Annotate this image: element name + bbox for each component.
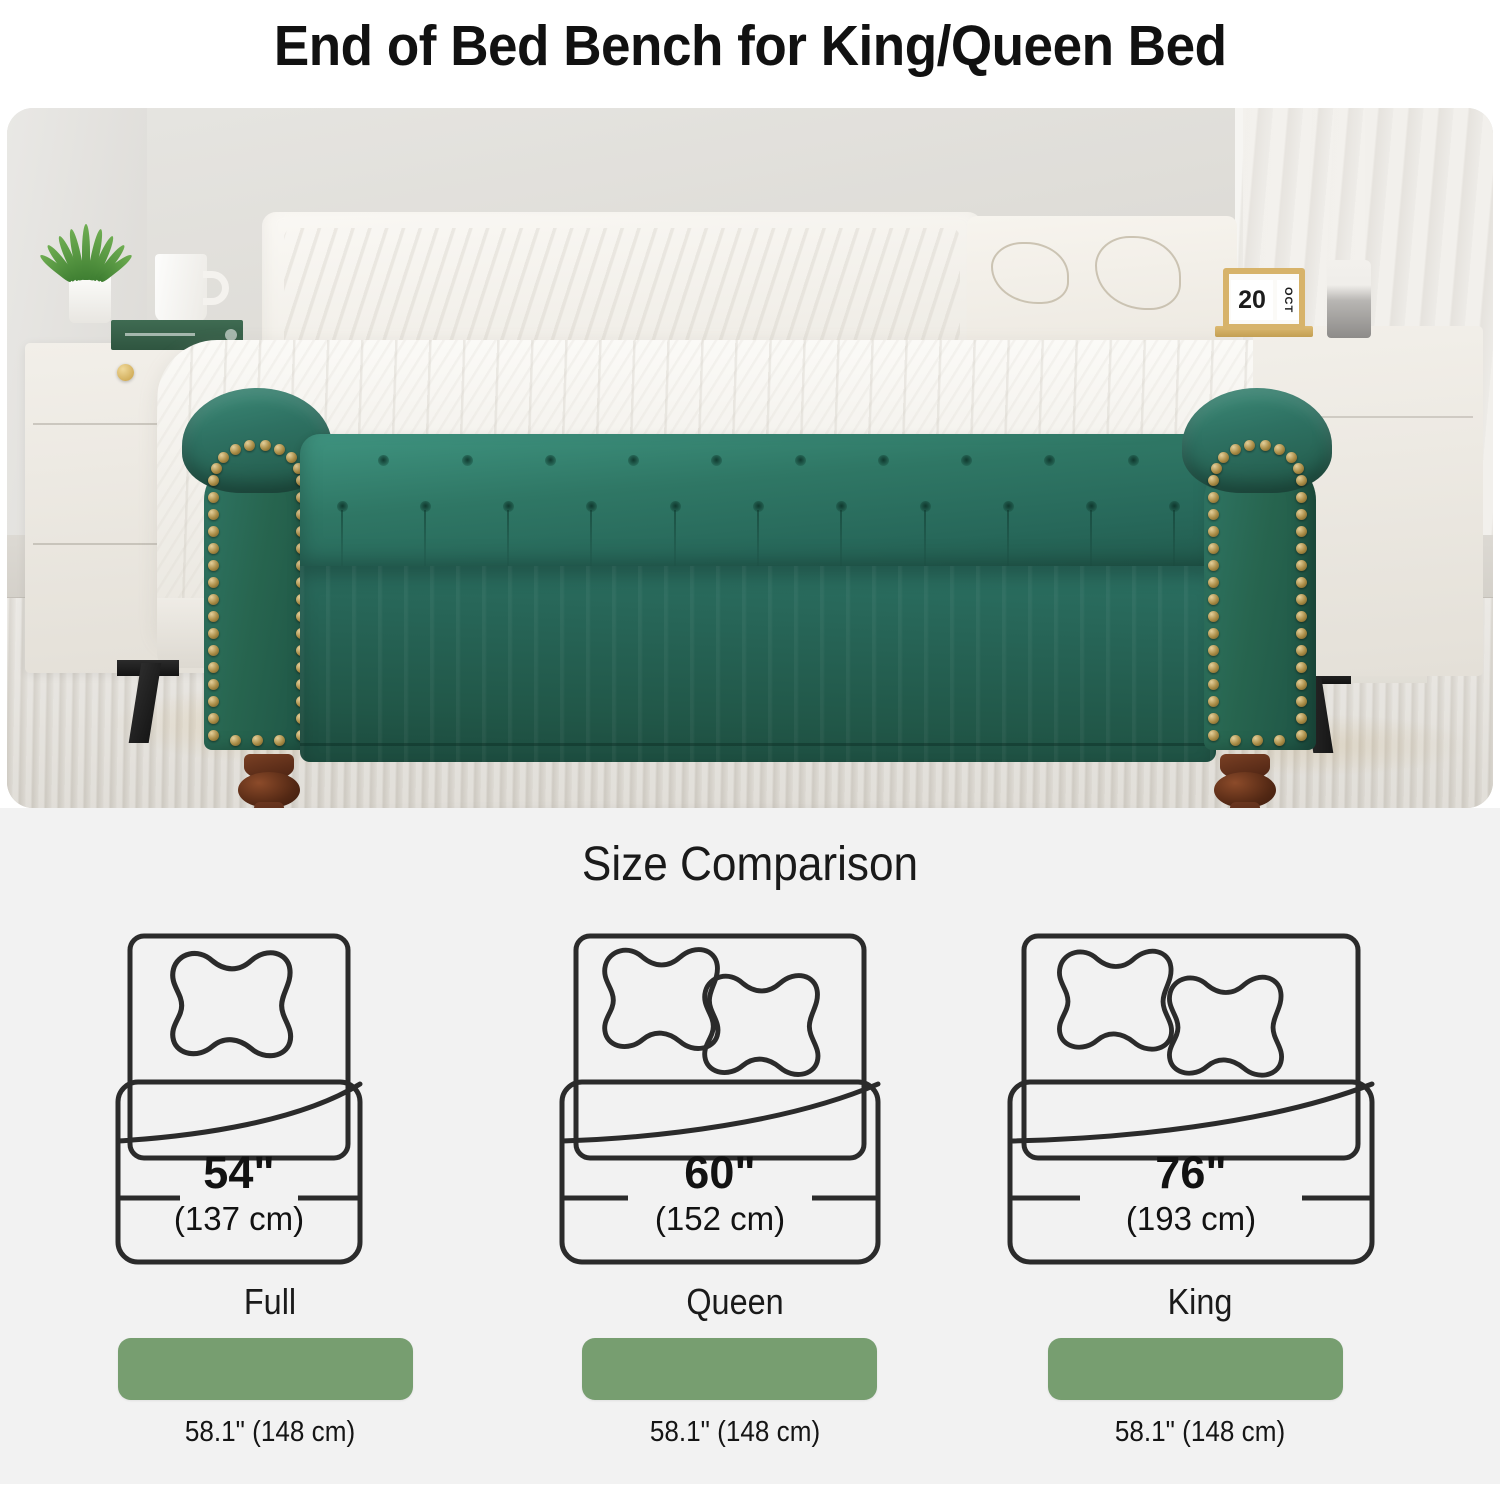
nailhead-stud-icon <box>1274 735 1285 746</box>
bed-diagram-full: 54" (137 cm) <box>100 926 440 1276</box>
bench-front-panel <box>300 566 1216 762</box>
bench-lid-tufted <box>300 434 1216 574</box>
nailhead-stud-icon <box>1208 679 1219 690</box>
nailhead-stud-icon <box>1296 696 1307 707</box>
nailhead-stud-icon <box>230 444 241 455</box>
pillow-icon <box>1059 951 1171 1049</box>
velvet-sheen <box>300 566 1216 762</box>
nailhead-stud-icon <box>274 735 285 746</box>
nailhead-stud-icon <box>208 730 219 741</box>
bench-leg-right <box>1214 754 1276 808</box>
nailhead-stud-icon <box>1296 645 1307 656</box>
page-title: End of Bed Bench for King/Queen Bed <box>274 18 1227 75</box>
nailhead-stud-icon <box>1208 730 1219 741</box>
bed-column-king: 76" (193 cm) King 58.1" (148 cm) <box>1000 926 1400 1486</box>
bed-column-full: 54" (137 cm) Full 58.1" (148 cm) <box>100 926 440 1486</box>
tuft-seam <box>341 510 343 568</box>
nailhead-stud-icon <box>1230 444 1241 455</box>
tuft-seam <box>840 510 842 568</box>
nailhead-stud-icon <box>1208 696 1219 707</box>
nailhead-stud-icon <box>1296 730 1307 741</box>
nailhead-stud-icon <box>208 492 219 503</box>
tuft-seam <box>1173 510 1175 568</box>
bench-leg-left <box>238 754 300 808</box>
tuft-button <box>1128 455 1139 466</box>
nailhead-stud-icon <box>1208 662 1219 673</box>
pillow-icon <box>605 950 718 1049</box>
nailhead-stud-icon <box>208 611 219 622</box>
nailhead-stud-icon <box>208 628 219 639</box>
embroidery-motif <box>1095 236 1181 310</box>
nailhead-stud-icon <box>230 735 241 746</box>
nailhead-stud-icon <box>208 662 219 673</box>
nailhead-stud-icon <box>1296 611 1307 622</box>
nailhead-stud-icon <box>1244 440 1255 451</box>
bench-arm-right <box>1182 388 1332 748</box>
calendar-day: 20 <box>1231 280 1273 320</box>
tuft-button <box>628 455 639 466</box>
storage-bench <box>182 388 1332 808</box>
tuft-seam <box>674 510 676 568</box>
nailhead-stud-icon <box>1286 452 1297 463</box>
page-header: End of Bed Bench for King/Queen Bed <box>0 0 1500 92</box>
nailhead-stud-icon <box>1296 628 1307 639</box>
nailhead-stud-icon <box>1208 594 1219 605</box>
calendar-month: OCT <box>1277 280 1299 320</box>
nailhead-stud-icon <box>1208 475 1219 486</box>
nailhead-stud-icon <box>211 463 222 474</box>
nailhead-stud-icon <box>1208 713 1219 724</box>
blanket-fold-line <box>118 1084 360 1141</box>
blanket-fold-line <box>562 1084 878 1141</box>
nailhead-stud-icon <box>1293 463 1304 474</box>
book-title-line <box>125 333 195 336</box>
mug <box>155 254 207 322</box>
tuft-button <box>378 455 389 466</box>
bed-comparison-columns: 54" (137 cm) Full 58.1" (148 cm) <box>0 926 1500 1486</box>
nailhead-stud-icon <box>1208 577 1219 588</box>
tuft-seam <box>424 510 426 568</box>
bench-arm-right-roll <box>1182 388 1332 493</box>
nailhead-stud-icon <box>208 645 219 656</box>
tuft-button <box>878 455 889 466</box>
nailhead-stud-icon <box>1208 543 1219 554</box>
pillow-icon <box>1169 977 1281 1075</box>
nailhead-stud-icon <box>1208 645 1219 656</box>
tuft-button <box>795 455 806 466</box>
nailhead-stud-icon <box>1208 628 1219 639</box>
bed-name-full: Full <box>117 1284 423 1320</box>
product-photo: 20 OCT <box>7 108 1493 808</box>
embroidery-motif <box>991 242 1069 304</box>
nailhead-stud-icon <box>1296 492 1307 503</box>
bed-width-inches: 60" <box>684 1147 755 1198</box>
nailhead-stud-icon <box>1252 735 1263 746</box>
nailhead-stud-icon <box>208 509 219 520</box>
nailhead-stud-icon <box>208 713 219 724</box>
nailhead-stud-icon <box>208 560 219 571</box>
bed-width-inches: 76" <box>1155 1147 1226 1198</box>
nailhead-stud-icon <box>1296 662 1307 673</box>
bench-bar-queen <box>582 1338 877 1400</box>
nailhead-stud-icon <box>1296 543 1307 554</box>
tuft-seam <box>924 510 926 568</box>
vase <box>1327 260 1371 338</box>
blanket-fold-line <box>1010 1084 1372 1141</box>
bed-column-queen: 60" (152 cm) Queen 58.1" (148 cm) <box>550 926 920 1486</box>
nailhead-stud-icon <box>1296 713 1307 724</box>
nailhead-stud-icon <box>1208 560 1219 571</box>
bed-width-cm: (137 cm) <box>174 1200 304 1237</box>
tuft-button <box>1044 455 1055 466</box>
nailhead-stud-icon <box>1296 560 1307 571</box>
pillow-icon <box>705 976 818 1075</box>
tuft-seam <box>1007 510 1009 568</box>
nailhead-stud-icon <box>1296 475 1307 486</box>
nailhead-stud-icon <box>1211 463 1222 474</box>
tuft-seam <box>757 510 759 568</box>
bench-bar-king <box>1048 1338 1343 1400</box>
nailhead-stud-icon <box>252 735 263 746</box>
nailhead-stud-icon <box>208 577 219 588</box>
nailhead-stud-icon <box>1260 440 1271 451</box>
tuft-button <box>711 455 722 466</box>
nailhead-stud-icon <box>244 440 255 451</box>
nailhead-stud-icon <box>1296 679 1307 690</box>
nailhead-stud-icon <box>208 679 219 690</box>
tuft-button <box>961 455 972 466</box>
section-title: Size Comparison <box>60 841 1440 889</box>
bed-width-cm: (193 cm) <box>1126 1200 1256 1237</box>
nailhead-stud-icon <box>208 543 219 554</box>
bed-width-cm: (152 cm) <box>655 1200 785 1237</box>
bed-name-queen: Queen <box>569 1284 902 1320</box>
tuft-seam <box>590 510 592 568</box>
nailhead-stud-icon <box>208 526 219 537</box>
nailhead-stud-icon <box>1208 492 1219 503</box>
nailhead-stud-icon <box>1208 509 1219 520</box>
nailhead-stud-icon <box>208 696 219 707</box>
tuft-button <box>462 455 473 466</box>
nailhead-stud-icon <box>1296 577 1307 588</box>
nailhead-stud-icon <box>208 475 219 486</box>
bed-width-inches: 54" <box>203 1147 274 1198</box>
nailhead-stud-icon <box>1274 444 1285 455</box>
bed-diagram-queen: 60" (152 cm) <box>550 926 920 1276</box>
nailhead-stud-icon <box>1296 594 1307 605</box>
tuft-seam <box>507 510 509 568</box>
bed-diagram-king: 76" (193 cm) <box>1000 926 1400 1276</box>
bench-caption-king: 58.1" (148 cm) <box>1020 1418 1380 1447</box>
nailhead-stud-icon <box>1208 611 1219 622</box>
nailhead-stud-icon <box>274 444 285 455</box>
nailhead-stud-icon <box>1230 735 1241 746</box>
nailhead-stud-icon <box>1296 526 1307 537</box>
tuft-seam <box>1090 510 1092 568</box>
tuft-button <box>545 455 556 466</box>
bed-name-king: King <box>1020 1284 1380 1320</box>
nailhead-stud-icon <box>1208 526 1219 537</box>
drawer-knob-icon <box>117 364 134 381</box>
size-comparison-section: Size Comparison 54" (137 cm) Full <box>0 808 1500 1484</box>
nailhead-stud-icon <box>208 594 219 605</box>
nailhead-stud-icon <box>1296 509 1307 520</box>
nailhead-stud-icon <box>286 452 297 463</box>
bench-bar-full <box>118 1338 413 1400</box>
bench-base-rail <box>300 743 1216 746</box>
bedroom-scene: 20 OCT <box>7 108 1493 808</box>
nailhead-stud-icon <box>260 440 271 451</box>
pillow-icon <box>173 953 291 1056</box>
bench-caption-full: 58.1" (148 cm) <box>117 1418 423 1447</box>
bench-caption-queen: 58.1" (148 cm) <box>569 1418 902 1447</box>
